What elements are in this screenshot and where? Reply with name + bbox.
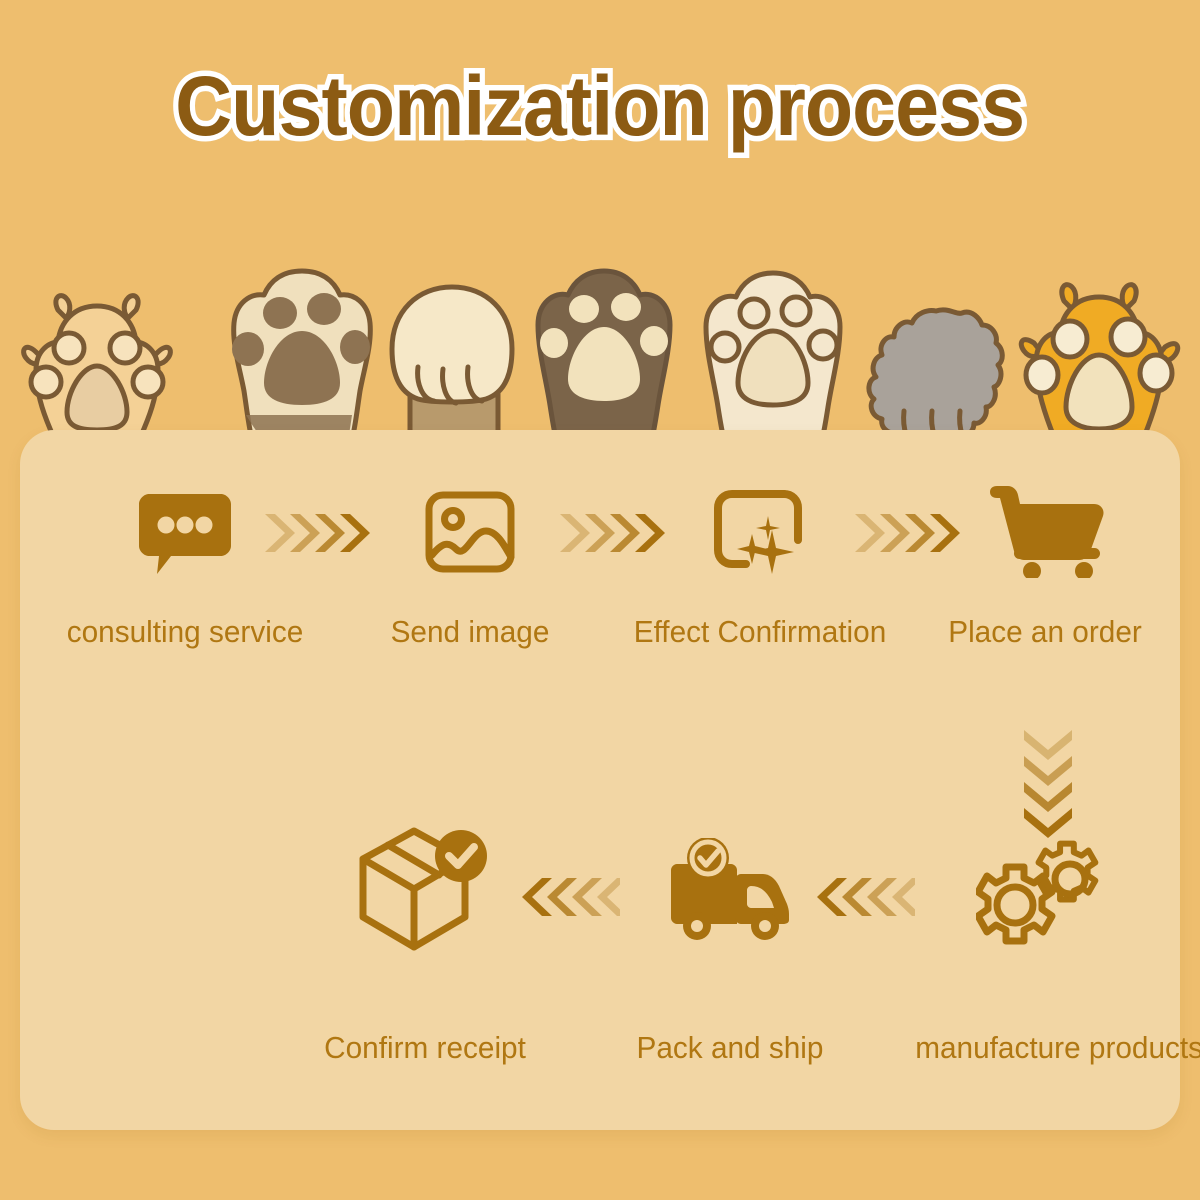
step-place-an-order[interactable]: Place an order bbox=[920, 472, 1170, 650]
paw-cat-tan bbox=[12, 270, 182, 455]
delivery-truck-check-icon bbox=[620, 830, 840, 950]
process-row-bottom bbox=[20, 830, 1180, 1060]
step-label: Effect Confirmation bbox=[616, 614, 904, 650]
paw-white-cream-graphic bbox=[698, 265, 848, 455]
paw-dark-brown-graphic bbox=[530, 265, 678, 455]
title-area: Customization process bbox=[0, 56, 1200, 166]
process-row-top: consulting service bbox=[20, 472, 1180, 702]
step-label: Send image bbox=[364, 614, 575, 650]
step-send-image[interactable]: Send image bbox=[360, 472, 580, 650]
paw-orange-claws-graphic bbox=[1012, 275, 1187, 455]
step-label: Confirm receipt bbox=[315, 1030, 536, 1066]
step-label: Pack and ship bbox=[624, 1030, 835, 1066]
paw-cream-brown bbox=[222, 265, 382, 455]
chevrons-left-1 bbox=[520, 874, 620, 920]
gears-icon bbox=[910, 830, 1170, 950]
step-confirm-receipt[interactable] bbox=[310, 830, 540, 950]
step-label: manufacture products bbox=[915, 1030, 1165, 1066]
step-label: Place an order bbox=[925, 614, 1165, 650]
process-card: consulting service bbox=[20, 430, 1180, 1130]
step-manufacture-products[interactable] bbox=[910, 830, 1170, 950]
step-consulting-service[interactable]: consulting service bbox=[60, 472, 310, 650]
image-picture-icon bbox=[360, 472, 580, 592]
shopping-cart-icon bbox=[920, 472, 1170, 592]
step-effect-confirmation[interactable]: Effect Confirmation bbox=[610, 472, 910, 650]
paw-illustration-row bbox=[0, 255, 1200, 455]
paw-dark-brown bbox=[530, 265, 678, 455]
paw-side-cream bbox=[386, 275, 518, 455]
infographic-canvas: Customization process bbox=[0, 0, 1200, 1200]
paw-white-cream bbox=[698, 265, 848, 455]
paw-side-cream-graphic bbox=[386, 275, 518, 455]
paw-cat-tan-graphic bbox=[12, 270, 182, 455]
paw-cream-brown-graphic bbox=[222, 265, 382, 455]
chevrons-right-1 bbox=[263, 510, 371, 556]
step-pack-and-ship[interactable] bbox=[620, 830, 840, 950]
box-check-icon bbox=[310, 830, 540, 950]
page-title: Customization process bbox=[176, 56, 1025, 156]
paw-orange-claws bbox=[1012, 275, 1187, 455]
chevrons-left-2 bbox=[815, 874, 915, 920]
step-label: consulting service bbox=[65, 614, 305, 650]
